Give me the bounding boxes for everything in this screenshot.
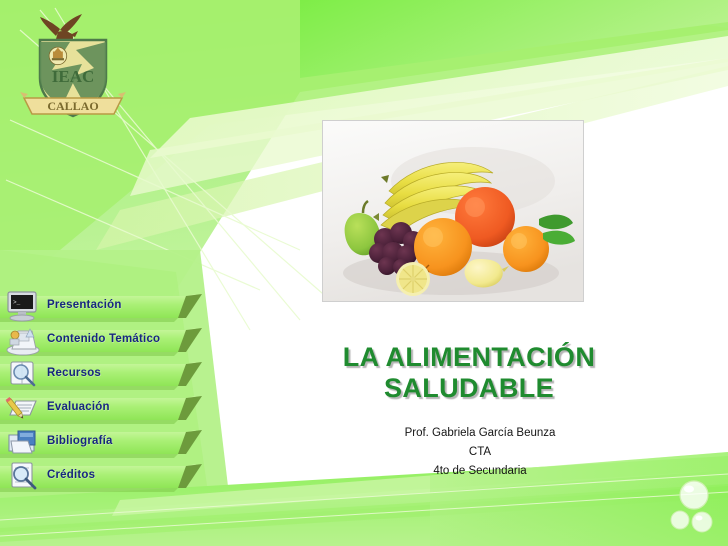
menu-item-contenido-tematico[interactable]: Contenido Temático <box>0 326 232 358</box>
book-magnifier-icon <box>4 357 42 391</box>
navigation-menu: >_ Presentación Contenido Temático <box>0 292 232 496</box>
menu-item-bibliografia[interactable]: Bibliografía <box>0 428 232 460</box>
folder-books-icon <box>4 425 42 459</box>
desk-study-icon <box>4 323 42 357</box>
pencil-notepad-icon <box>4 391 42 425</box>
menu-item-creditos[interactable]: Créditos <box>0 462 232 494</box>
monitor-icon: >_ <box>4 289 42 323</box>
magnifier-document-icon <box>4 459 42 493</box>
svg-text:>_: >_ <box>13 299 21 306</box>
course-name: CTA <box>330 443 630 462</box>
school-crest-icon: IEAC CALLAO <box>18 6 128 121</box>
slide-canvas: IEAC CALLAO <box>0 0 728 546</box>
author-name: Prof. Gabriela García Beunza <box>330 424 630 443</box>
menu-label-evaluacion: Evaluación <box>47 401 110 413</box>
bubbles-decoration <box>664 478 720 536</box>
grade-level: 4to de Secundaria <box>330 462 630 481</box>
title-block: LA ALIMENTACIÓN SALUDABLE <box>288 342 650 404</box>
menu-label-recursos: Recursos <box>47 367 101 379</box>
fruit-photo <box>322 120 584 302</box>
menu-label-contenido-tematico: Contenido Temático <box>47 333 160 345</box>
menu-label-creditos: Créditos <box>47 469 95 481</box>
menu-item-recursos[interactable]: Recursos <box>0 360 232 392</box>
menu-item-evaluacion[interactable]: Evaluación <box>0 394 232 426</box>
page-title: LA ALIMENTACIÓN SALUDABLE <box>288 342 650 404</box>
menu-label-bibliografia: Bibliografía <box>47 435 113 447</box>
crest-initials: IEAC <box>52 67 95 86</box>
crest-banner-text: CALLAO <box>47 99 98 113</box>
fruit-photo-illustration <box>323 121 584 302</box>
menu-label-presentacion: Presentación <box>47 299 122 311</box>
menu-item-presentacion[interactable]: >_ Presentación <box>0 292 232 324</box>
subtitle-block: Prof. Gabriela García Beunza CTA 4to de … <box>330 424 630 481</box>
